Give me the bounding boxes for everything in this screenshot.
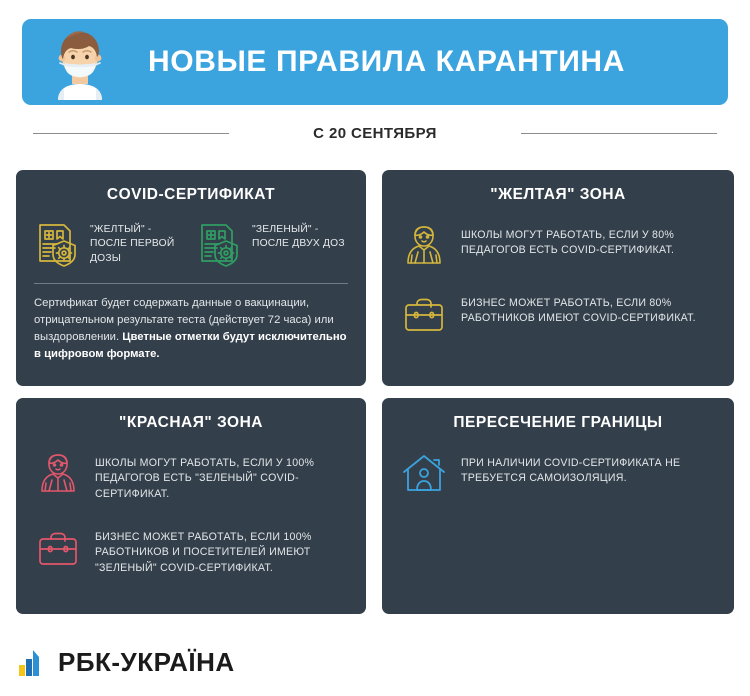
card-yellow-zone: "ЖЕЛТАЯ" ЗОНА (382, 170, 734, 386)
briefcase-icon (34, 523, 82, 571)
date-text: С 20 СЕНТЯБРЯ (313, 125, 437, 142)
list-item: ПРИ НАЛИЧИИ COVID-СЕРТИФИКАТА НЕ ТРЕБУЕТ… (400, 449, 716, 497)
list-item: ШКОЛЫ МОГУТ РАБОТАТЬ, ЕСЛИ У 100% ПЕДАГО… (34, 449, 348, 503)
list-item: БИЗНЕС МОЖЕТ РАБОТАТЬ, ЕСЛИ 80% РАБОТНИК… (400, 289, 716, 337)
header-title: НОВЫЕ ПРАВИЛА КАРАНТИНА (148, 45, 625, 79)
list-item-text: БИЗНЕС МОЖЕТ РАБОТАТЬ, ЕСЛИ 100% РАБОТНИ… (95, 523, 348, 577)
footer-logo[interactable]: РБК-УКРАЇНА (18, 647, 235, 678)
green-certificate-icon (196, 221, 244, 269)
card-covid-certificate: COVID-СЕРТИФИКАТ (16, 170, 366, 386)
yellow-certificate-icon (34, 221, 82, 269)
certificate-label: "ЖЕЛТЫЙ" - ПОСЛЕ ПЕРВОЙ ДОЗЫ (90, 221, 186, 267)
rbc-bars-logo-icon (18, 649, 46, 677)
divider-left (33, 133, 229, 134)
card-red-zone: "КРАСНАЯ" ЗОНА (16, 398, 366, 614)
briefcase-icon (400, 289, 448, 337)
card-border-crossing: ПЕРЕСЕЧЕНИЕ ГРАНИЦЫ ПРИ НАЛИЧИИ COVID-СЕ… (382, 398, 734, 614)
certificate-green: "ЗЕЛЕНЫЙ" - ПОСЛЕ ДВУХ ДОЗ (196, 221, 348, 269)
card-title: COVID-СЕРТИФИКАТ (34, 186, 348, 205)
list-item-text: ШКОЛЫ МОГУТ РАБОТАТЬ, ЕСЛИ У 80% ПЕДАГОГ… (461, 221, 716, 259)
certificate-list: "ЖЕЛТЫЙ" - ПОСЛЕ ПЕРВОЙ ДОЗЫ (34, 221, 348, 269)
certificate-yellow: "ЖЕЛТЫЙ" - ПОСЛЕ ПЕРВОЙ ДОЗЫ (34, 221, 186, 269)
card-title: "ЖЕЛТАЯ" ЗОНА (400, 186, 716, 205)
teacher-icon (34, 449, 82, 497)
divider-right (521, 133, 717, 134)
list-item: БИЗНЕС МОЖЕТ РАБОТАТЬ, ЕСЛИ 100% РАБОТНИ… (34, 523, 348, 577)
list-item: ШКОЛЫ МОГУТ РАБОТАТЬ, ЕСЛИ У 80% ПЕДАГОГ… (400, 221, 716, 269)
list-item-text: БИЗНЕС МОЖЕТ РАБОТАТЬ, ЕСЛИ 80% РАБОТНИК… (461, 289, 716, 327)
header-banner: НОВЫЕ ПРАВИЛА КАРАНТИНА (22, 19, 728, 105)
date-banner: С 20 СЕНТЯБРЯ (22, 114, 728, 152)
list-item-text: ШКОЛЫ МОГУТ РАБОТАТЬ, ЕСЛИ У 100% ПЕДАГО… (95, 449, 348, 503)
card-body: Сертификат будет содержать данные о вакц… (34, 295, 348, 364)
certificate-label: "ЗЕЛЕНЫЙ" - ПОСЛЕ ДВУХ ДОЗ (252, 221, 348, 252)
footer-logo-text: РБК-УКРАЇНА (58, 647, 235, 678)
card-grid: COVID-СЕРТИФИКАТ (16, 170, 734, 614)
list-item-text: ПРИ НАЛИЧИИ COVID-СЕРТИФИКАТА НЕ ТРЕБУЕТ… (461, 449, 716, 487)
masked-person-icon (44, 24, 116, 100)
infographic-page: НОВЫЕ ПРАВИЛА КАРАНТИНА С 20 СЕНТЯБРЯ CO… (0, 0, 750, 696)
teacher-icon (400, 221, 448, 269)
card-title: ПЕРЕСЕЧЕНИЕ ГРАНИЦЫ (400, 414, 716, 433)
house-person-icon (400, 449, 448, 497)
card-title: "КРАСНАЯ" ЗОНА (34, 414, 348, 433)
card-divider (34, 283, 348, 284)
